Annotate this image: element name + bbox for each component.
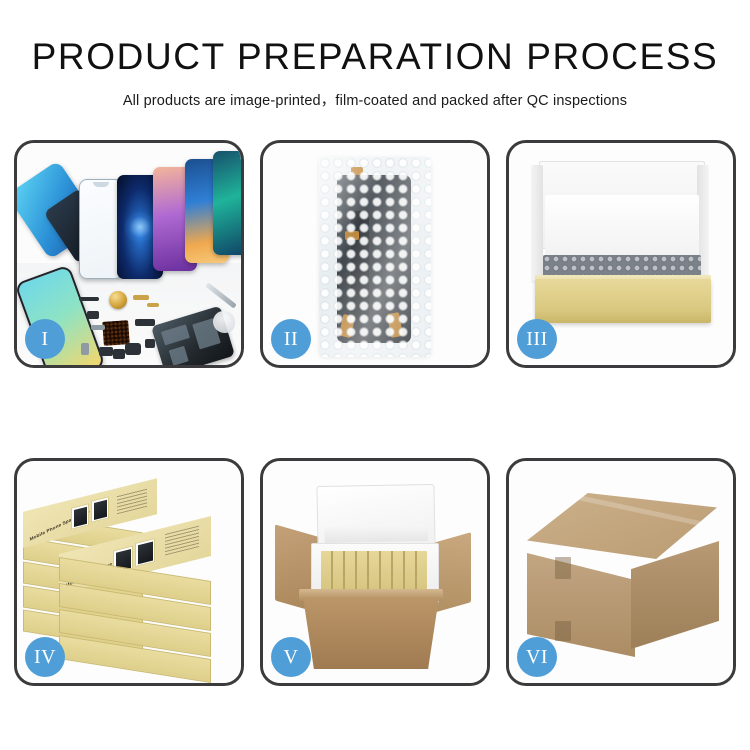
- step-badge-6: VI: [517, 637, 557, 677]
- box-text-lines-1: [117, 487, 147, 514]
- component-block-5: [99, 347, 113, 356]
- step-badge-1: I: [25, 319, 65, 359]
- process-step-1: I: [14, 140, 244, 368]
- component-block-2: [135, 319, 155, 326]
- component-block-4: [81, 343, 89, 355]
- component-bar-2: [91, 325, 105, 330]
- foam-sheet: [545, 195, 699, 257]
- carton-body: [303, 597, 439, 669]
- process-grid: I II: [14, 140, 736, 686]
- page-subtitle: All products are image-printed，film-coat…: [0, 89, 750, 110]
- chip-array: [102, 320, 130, 346]
- box-text-lines-2: [165, 525, 199, 555]
- infographic-page: PRODUCT PREPARATION PROCESS All products…: [0, 0, 750, 750]
- camera-module: [109, 291, 127, 309]
- process-step-2: II: [260, 140, 490, 368]
- component-block-1: [87, 311, 99, 319]
- step-badge-2: II: [271, 319, 311, 359]
- step-badge-3: III: [517, 319, 557, 359]
- process-step-4: Mobile Phone Spare Parts Mobile Phone Sp…: [14, 458, 244, 686]
- carton-tape-lower: [555, 621, 571, 641]
- plastic-sheen: [319, 157, 431, 357]
- carton-tape-upper: [555, 557, 571, 579]
- foam-box-lid: [316, 484, 435, 550]
- kraft-box-tray: [535, 279, 711, 323]
- phone-screen-teal: [213, 151, 241, 255]
- process-step-3: III: [506, 140, 736, 368]
- inner-boxes-row: [321, 551, 427, 593]
- box-window-1b: [91, 496, 109, 522]
- step-badge-4: IV: [25, 637, 65, 677]
- process-step-6: VI: [506, 458, 736, 686]
- header: PRODUCT PREPARATION PROCESS All products…: [0, 0, 750, 110]
- flex-cable-2: [147, 303, 159, 307]
- process-step-5: V: [260, 458, 490, 686]
- component-bar-1: [79, 297, 99, 301]
- speaker-unit: [125, 343, 141, 355]
- box-window-1a: [71, 503, 89, 529]
- flex-cable-1: [133, 295, 149, 300]
- component-block-3: [113, 349, 125, 359]
- hand-shape: [213, 311, 235, 333]
- box-flap-left: [531, 165, 543, 283]
- step-badge-5: V: [271, 637, 311, 677]
- component-block-6: [145, 339, 155, 348]
- box-window-2b: [135, 538, 155, 567]
- page-title: PRODUCT PREPARATION PROCESS: [0, 38, 750, 77]
- bubble-wrap-bag: [319, 157, 431, 357]
